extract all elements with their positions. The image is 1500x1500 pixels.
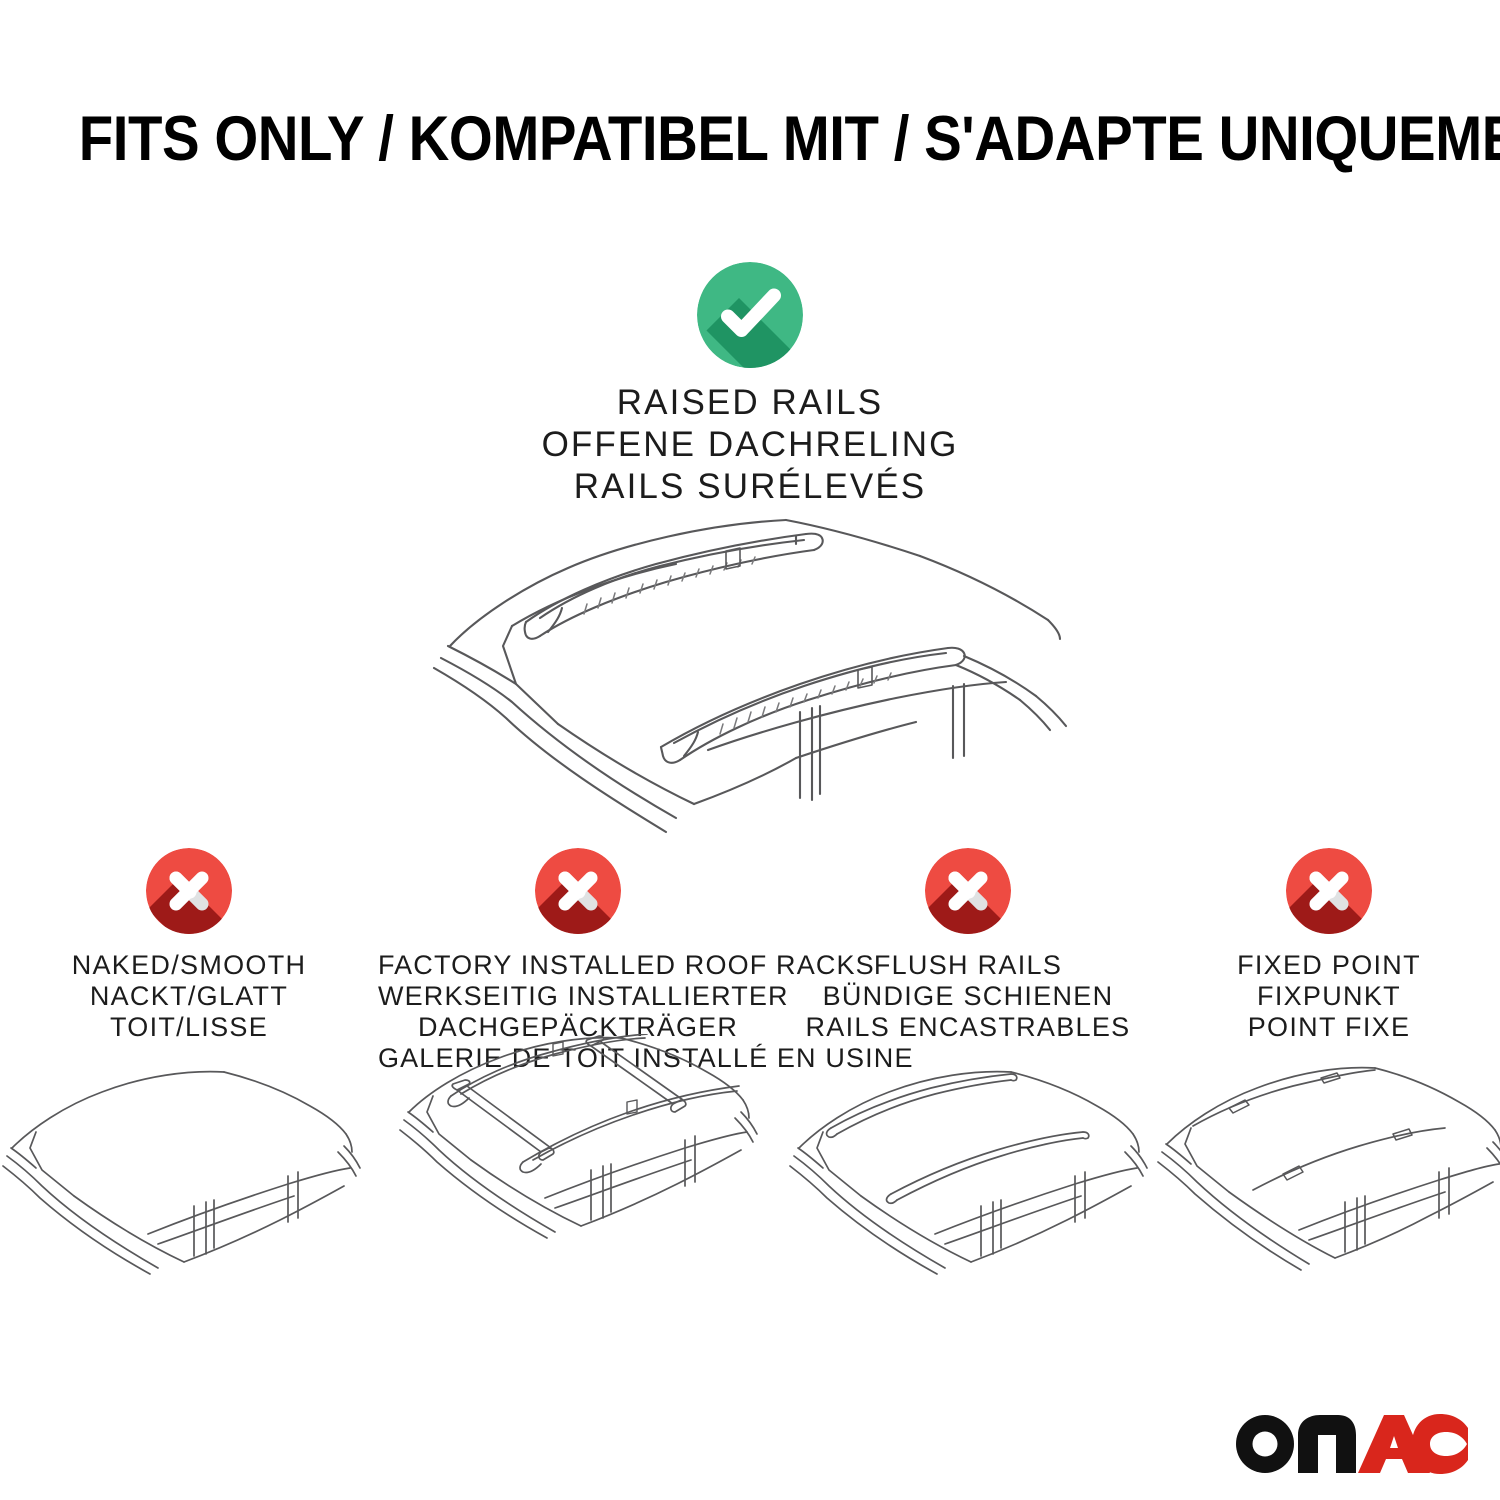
incompatible-labels-4: FIXED POINT FIXPUNKT POINT FIXE xyxy=(1158,950,1500,1043)
label-line-fr: RAILS ENCASTRABLES xyxy=(778,1012,1158,1043)
incompatible-item-fixed-point: FIXED POINT FIXPUNKT POINT FIXE xyxy=(1158,848,1500,1043)
label-line-en: NAKED/SMOOTH xyxy=(0,950,378,981)
x-circle-icon xyxy=(535,848,621,934)
car-roof-bare-smooth-illustration xyxy=(0,1056,364,1276)
x-circle-icon xyxy=(146,848,232,934)
compatible-label-de: OFFENE DACHRELING xyxy=(0,424,1500,466)
incompatible-section: NAKED/SMOOTH NACKT/GLATT TOIT/LISSE xyxy=(0,848,1500,1074)
omac-logo-letter-c xyxy=(1412,1414,1468,1474)
label-line-de: BÜNDIGE SCHIENEN xyxy=(778,981,1158,1012)
label-line-de: FIXPUNKT xyxy=(1158,981,1500,1012)
omac-logo xyxy=(1232,1404,1468,1476)
label-line-fr: TOIT/LISSE xyxy=(0,1012,378,1043)
check-mark-glyph xyxy=(697,262,803,368)
x-mark-glyph xyxy=(535,848,621,934)
x-circle-icon xyxy=(1286,848,1372,934)
label-line-en: FACTORY INSTALLED ROOF RACKS xyxy=(378,950,778,981)
incompatible-item-factory-roof-racks: FACTORY INSTALLED ROOF RACKS WERKSEITIG … xyxy=(378,848,778,1074)
label-line-de-1: WERKSEITIG INSTALLIERTER xyxy=(378,981,778,1012)
check-icon-container xyxy=(0,262,1500,370)
incompatible-item-naked-smooth: NAKED/SMOOTH NACKT/GLATT TOIT/LISSE xyxy=(0,848,378,1043)
car-roof-fixed-points-illustration xyxy=(1153,1056,1500,1276)
omac-logo-letter-m xyxy=(1298,1415,1356,1473)
label-line-en: FLUSH RAILS xyxy=(778,950,1158,981)
x-icon-container-3 xyxy=(778,848,1158,948)
car-roof-raised-rails-illustration xyxy=(408,498,1098,838)
x-circle-icon xyxy=(925,848,1011,934)
x-mark-glyph xyxy=(925,848,1011,934)
page-title: FITS ONLY / KOMPATIBEL MIT / S'ADAPTE UN… xyxy=(79,104,1422,174)
incompatible-labels-3: FLUSH RAILS BÜNDIGE SCHIENEN RAILS ENCAS… xyxy=(778,950,1158,1043)
x-icon-container-1 xyxy=(0,848,378,948)
x-icon-container-4 xyxy=(1158,848,1500,948)
label-line-de: NACKT/GLATT xyxy=(0,981,378,1012)
label-line-en: FIXED POINT xyxy=(1158,950,1500,981)
label-line-fr: POINT FIXE xyxy=(1158,1012,1500,1043)
check-circle-icon xyxy=(697,262,803,368)
compatible-labels: RAISED RAILS OFFENE DACHRELING RAILS SUR… xyxy=(0,382,1500,508)
omac-logo-letter-o xyxy=(1236,1415,1294,1473)
x-mark-glyph xyxy=(146,848,232,934)
car-roof-flush-rails-illustration xyxy=(785,1056,1151,1276)
compatible-section: RAISED RAILS OFFENE DACHRELING RAILS SUR… xyxy=(0,262,1500,508)
car-roof-factory-crossbars-illustration xyxy=(395,1034,761,1254)
x-icon-container-2 xyxy=(378,848,778,948)
compatible-label-en: RAISED RAILS xyxy=(0,382,1500,424)
incompatible-labels-1: NAKED/SMOOTH NACKT/GLATT TOIT/LISSE xyxy=(0,950,378,1043)
x-mark-glyph xyxy=(1286,848,1372,934)
incompatible-item-flush-rails: FLUSH RAILS BÜNDIGE SCHIENEN RAILS ENCAS… xyxy=(778,848,1158,1043)
